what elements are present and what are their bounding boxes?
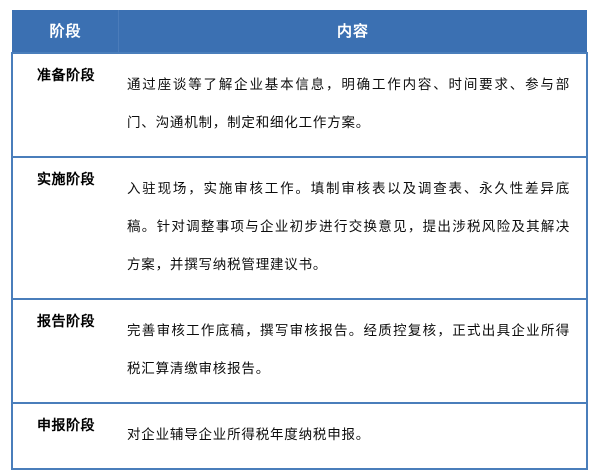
- content-cell: 入驻现场，实施审核工作。填制审核表以及调查表、永久性差异底稿。针对调整事项与企业…: [119, 157, 587, 299]
- content-text: 完善审核工作底稿，撰写审核报告。经质控复核，正式出具企业所得税汇算清缴审核报告。: [127, 312, 570, 388]
- content-text: 对企业辅导企业所得税年度纳税申报。: [127, 416, 570, 454]
- content-cell: 通过座谈等了解企业基本信息，明确工作内容、时间要求、参与部门、沟通机制，制定和细…: [119, 53, 587, 157]
- content-cell: 对企业辅导企业所得税年度纳税申报。: [119, 403, 587, 469]
- table-row: 申报阶段 对企业辅导企业所得税年度纳税申报。: [12, 403, 587, 469]
- stage-cell: 申报阶段: [12, 403, 119, 469]
- content-text: 通过座谈等了解企业基本信息，明确工作内容、时间要求、参与部门、沟通机制，制定和细…: [127, 66, 570, 142]
- stage-label: 准备阶段: [13, 66, 119, 87]
- column-header-stage: 阶段: [12, 10, 119, 53]
- table-row: 准备阶段 通过座谈等了解企业基本信息，明确工作内容、时间要求、参与部门、沟通机制…: [12, 53, 587, 157]
- stage-label: 申报阶段: [13, 416, 119, 437]
- column-header-content: 内容: [119, 10, 587, 53]
- table-body: 准备阶段 通过座谈等了解企业基本信息，明确工作内容、时间要求、参与部门、沟通机制…: [12, 53, 587, 469]
- stage-cell: 实施阶段: [12, 157, 119, 299]
- table-row: 实施阶段 入驻现场，实施审核工作。填制审核表以及调查表、永久性差异底稿。针对调整…: [12, 157, 587, 299]
- table-header-row: 阶段 内容: [12, 10, 587, 53]
- stage-label: 报告阶段: [13, 312, 119, 333]
- content-cell: 完善审核工作底稿，撰写审核报告。经质控复核，正式出具企业所得税汇算清缴审核报告。: [119, 299, 587, 403]
- stage-cell: 准备阶段: [12, 53, 119, 157]
- page-canvas: 阶段 内容 准备阶段 通过座谈等了解企业基本信息，明确工作内容、时间要求、参与部…: [0, 0, 600, 410]
- phase-content-table: 阶段 内容 准备阶段 通过座谈等了解企业基本信息，明确工作内容、时间要求、参与部…: [11, 10, 588, 470]
- stage-label: 实施阶段: [13, 170, 119, 191]
- content-text: 入驻现场，实施审核工作。填制审核表以及调查表、永久性差异底稿。针对调整事项与企业…: [127, 170, 570, 284]
- stage-cell: 报告阶段: [12, 299, 119, 403]
- table-row: 报告阶段 完善审核工作底稿，撰写审核报告。经质控复核，正式出具企业所得税汇算清缴…: [12, 299, 587, 403]
- table-header: 阶段 内容: [12, 10, 587, 53]
